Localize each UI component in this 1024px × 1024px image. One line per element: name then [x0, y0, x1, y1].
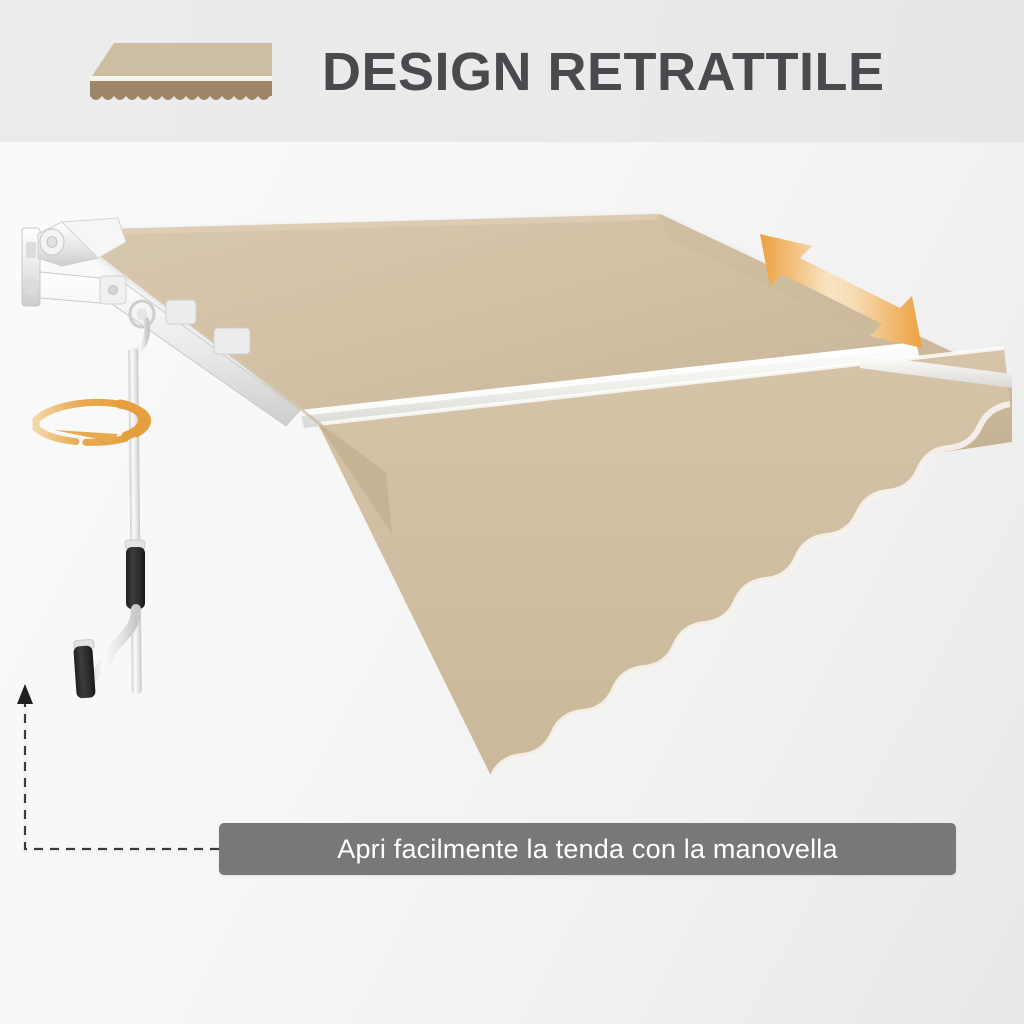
- product-feature-image: DESIGN RETRATTILE: [0, 0, 1024, 1024]
- header-band: DESIGN RETRATTILE: [0, 0, 1024, 142]
- caption-text: Apri facilmente la tenda con la manovell…: [337, 834, 837, 865]
- header-content: DESIGN RETRATTILE: [0, 0, 1024, 142]
- awning-icon: [62, 38, 294, 106]
- crank-handle: [73, 320, 147, 699]
- wavy-valance: [318, 348, 1010, 778]
- caption-bar: Apri facilmente la tenda con la manovell…: [219, 823, 956, 875]
- page-title: DESIGN RETRATTILE: [322, 37, 982, 107]
- retractable-awning-illustration: [0, 142, 1024, 902]
